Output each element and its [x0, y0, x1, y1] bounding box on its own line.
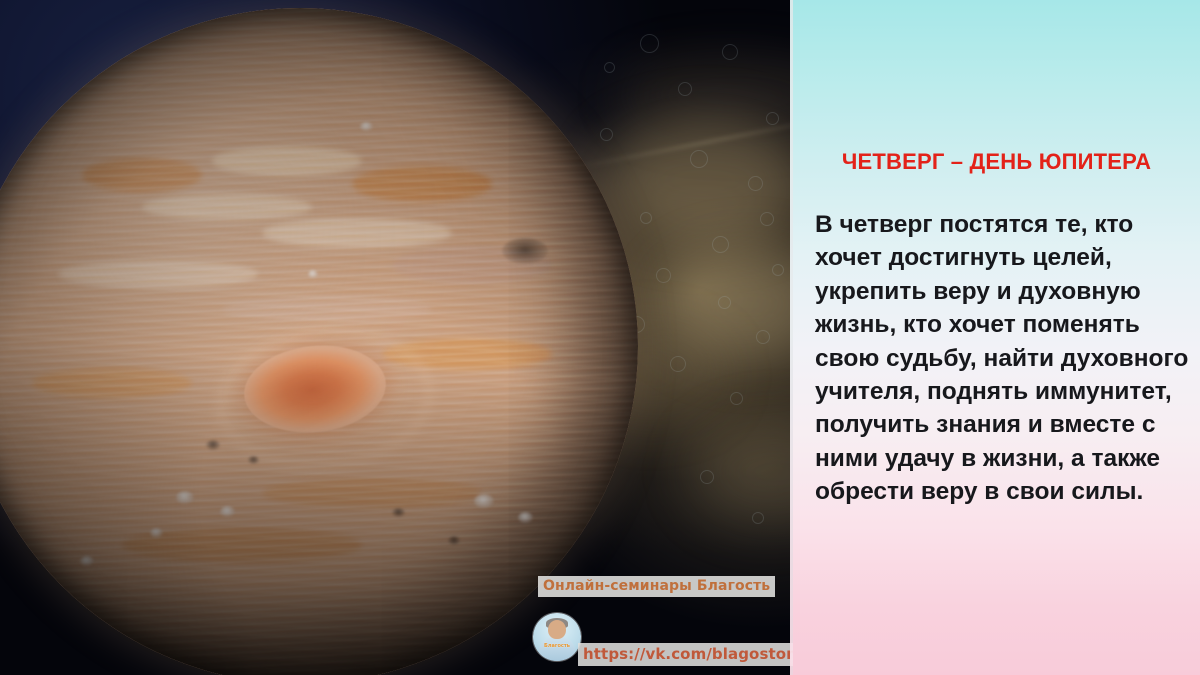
bokeh-ring-icon: [656, 268, 671, 283]
bokeh-ring-icon: [766, 112, 779, 125]
bokeh-ring-icon: [640, 212, 652, 224]
bokeh-ring-icon: [722, 44, 738, 60]
jupiter-planet: [0, 8, 638, 675]
body-text: В четверг постятся те, кто хочет достигн…: [815, 208, 1190, 509]
bokeh-ring-icon: [752, 512, 764, 524]
bokeh-ring-icon: [712, 236, 729, 253]
nebula-wisp: [690, 420, 793, 525]
bokeh-ring-icon: [772, 264, 784, 276]
bokeh-ring-icon: [700, 470, 714, 484]
bokeh-ring-icon: [756, 330, 770, 344]
text-panel: ЧЕТВЕРГ – ДЕНЬ ЮПИТЕРА В четверг постятс…: [793, 0, 1200, 675]
nebula-wisp: [620, 60, 793, 130]
bokeh-ring-icon: [760, 212, 774, 226]
avatar: Благость: [533, 613, 581, 661]
body-paragraph: В четверг постятся те, кто хочет достигн…: [815, 208, 1190, 509]
watermark-url-link[interactable]: https://vk.com/blagostonline: [578, 643, 793, 666]
bokeh-ring-icon: [718, 296, 731, 309]
space-background: Онлайн-семинары Благость Благость https:…: [0, 0, 793, 675]
bokeh-ring-icon: [640, 34, 659, 53]
page-title: ЧЕТВЕРГ – ДЕНЬ ЮПИТЕРА: [793, 149, 1200, 175]
bokeh-ring-icon: [730, 392, 743, 405]
avatar-body: [539, 637, 575, 661]
nebula-wisp: [660, 250, 793, 360]
watermark-seminars-label: Онлайн-семинары Благость: [538, 576, 775, 597]
poster-canvas: Онлайн-семинары Благость Благость https:…: [0, 0, 1200, 675]
bokeh-ring-icon: [670, 356, 686, 372]
bokeh-ring-icon: [748, 176, 763, 191]
avatar-caption: Благость: [533, 643, 581, 649]
bokeh-ring-icon: [690, 150, 708, 168]
avatar-head: [548, 620, 566, 639]
bokeh-ring-icon: [678, 82, 692, 96]
